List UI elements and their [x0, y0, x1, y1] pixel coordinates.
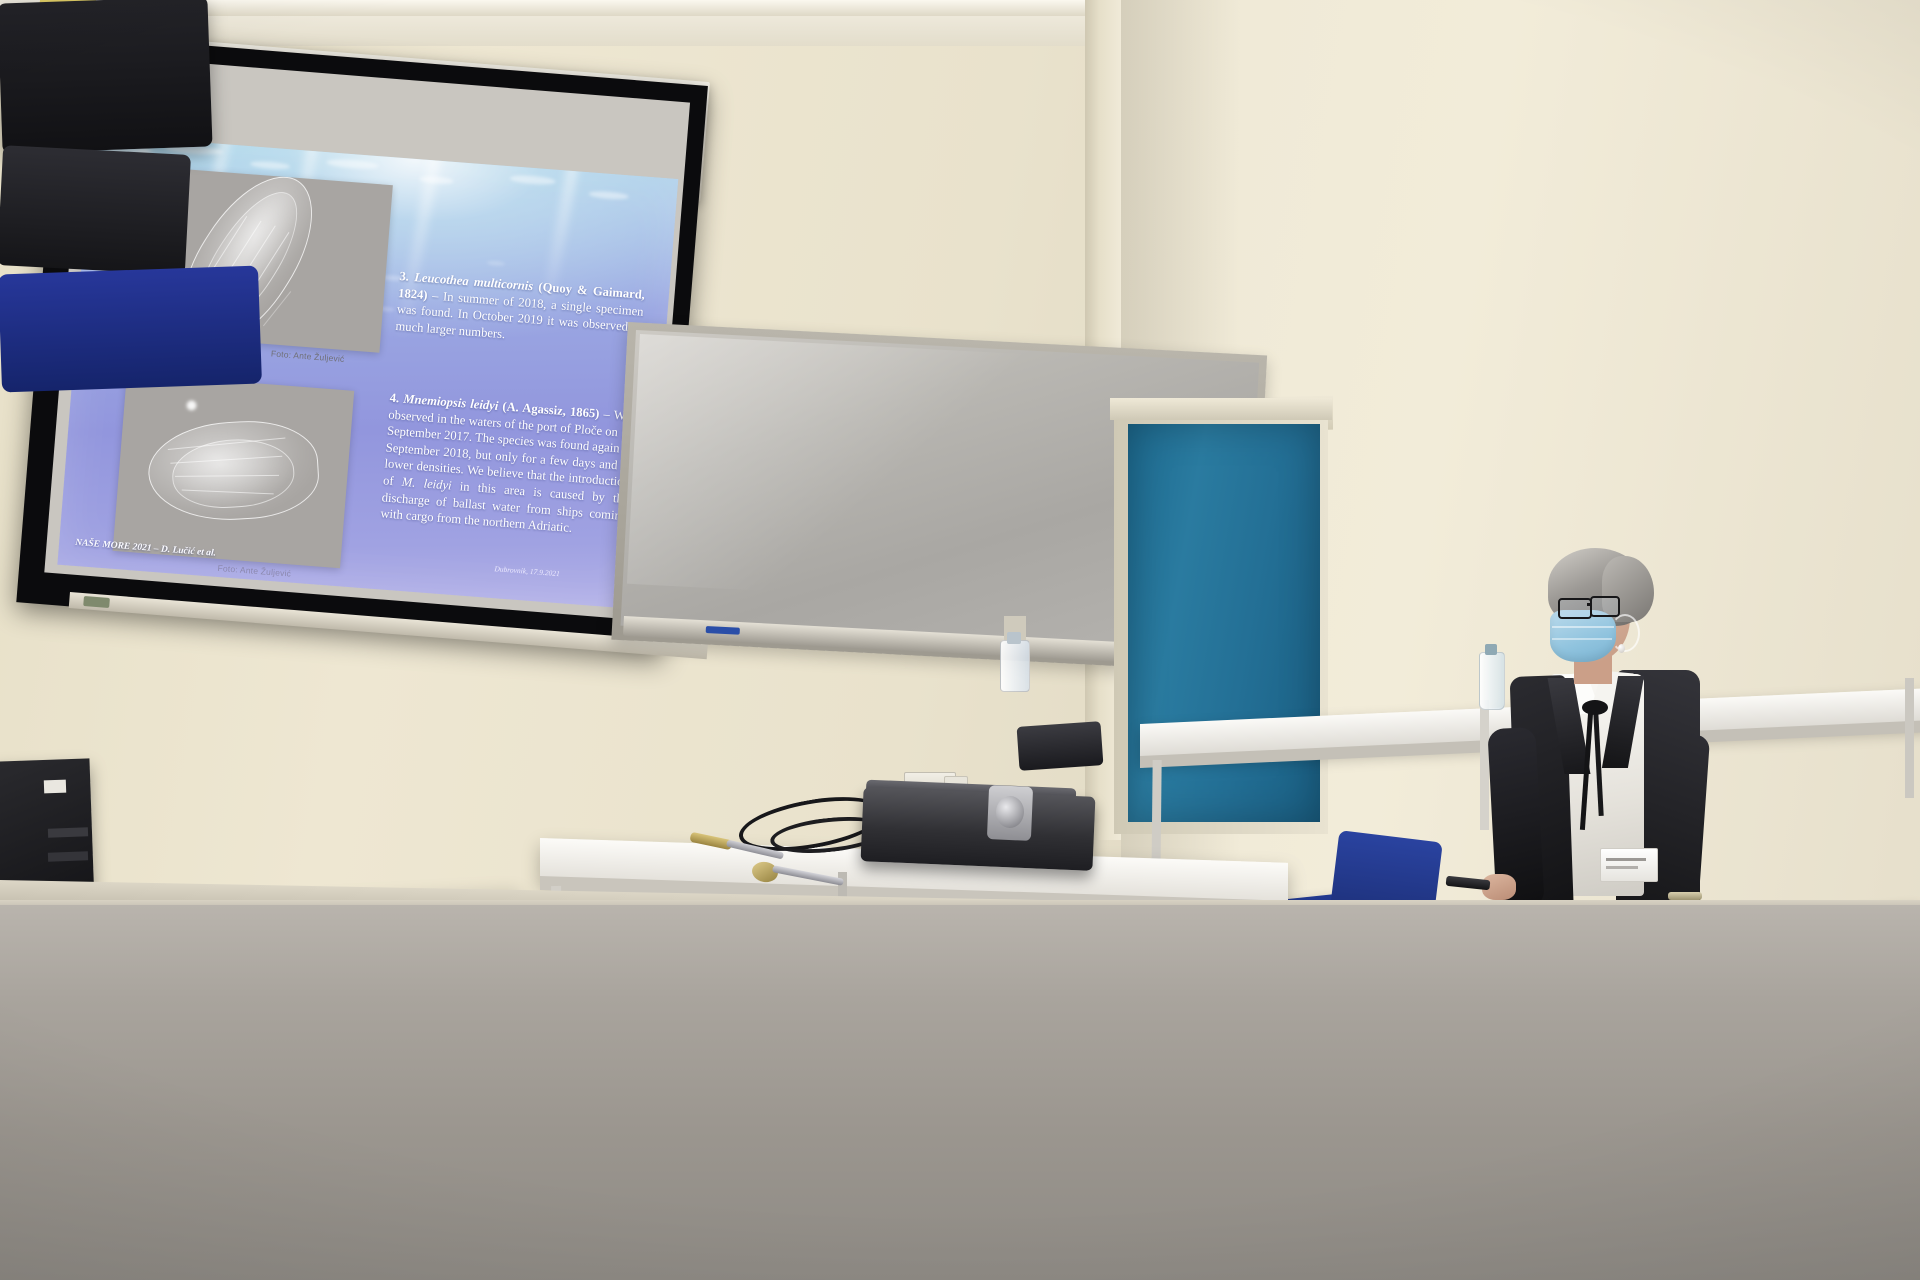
wristwatch [1668, 892, 1702, 900]
para1-number: 3. [399, 269, 410, 284]
slide-photo-mnemiopsis [113, 373, 355, 568]
chair-backrest[interactable] [0, 0, 213, 154]
slide-photo-credit-1: Foto: Ante Žuljević [271, 348, 345, 364]
slide-paragraph-leucothea: 3. Leucothea multicornis (Quoy & Gaimard… [395, 268, 646, 353]
slide-photo-credit-2: Foto: Ante Žuljević [217, 563, 291, 579]
face-mask-earloop [1610, 614, 1640, 652]
back-table-leg [1480, 700, 1489, 830]
door-header [1110, 398, 1332, 420]
chair-backrest[interactable] [0, 265, 262, 392]
photo-scene: Foto: Ante Žuljević Foto: Ante Žuljević … [0, 0, 1920, 1280]
screen-pull-knob[interactable] [83, 596, 110, 608]
hand-sanitizer-dispenser[interactable] [1000, 640, 1030, 692]
back-table-leg [1905, 678, 1914, 798]
name-badge-line [1606, 866, 1638, 869]
monitor-port [48, 851, 88, 861]
para2-number: 4. [389, 391, 400, 406]
name-badge [1600, 848, 1658, 882]
face-mask-fold [1552, 638, 1612, 640]
equipment-case [1017, 721, 1104, 771]
monitor-label [44, 780, 66, 794]
sanitizer-pump-icon [1007, 632, 1021, 644]
glasses-bridge [1587, 603, 1592, 606]
earring [1618, 644, 1625, 653]
slide-footer-right: Dubrovnik, 17.9.2021 [494, 564, 560, 578]
glasses-lens-right [1590, 596, 1620, 617]
para2-dash: – [599, 407, 615, 422]
floor [0, 905, 1920, 1280]
face-mask-fold [1552, 626, 1614, 628]
video-projector[interactable] [861, 787, 1096, 871]
whiteboard-glare [627, 334, 1040, 605]
slide-paragraph-mnemiopsis: 4. Mnemiopsis leidyi (A. Agassiz, 1865) … [380, 390, 636, 541]
name-badge-line [1606, 858, 1646, 861]
presenter-bow-knot [1582, 700, 1608, 715]
water-bottle-cap [1485, 644, 1497, 655]
monitor-port [48, 827, 88, 837]
para1-dash: – [427, 288, 444, 303]
para2-inline-species: M. leidyi [401, 475, 452, 493]
glasses-lens-left [1558, 598, 1592, 619]
chair-seat[interactable] [0, 145, 191, 275]
